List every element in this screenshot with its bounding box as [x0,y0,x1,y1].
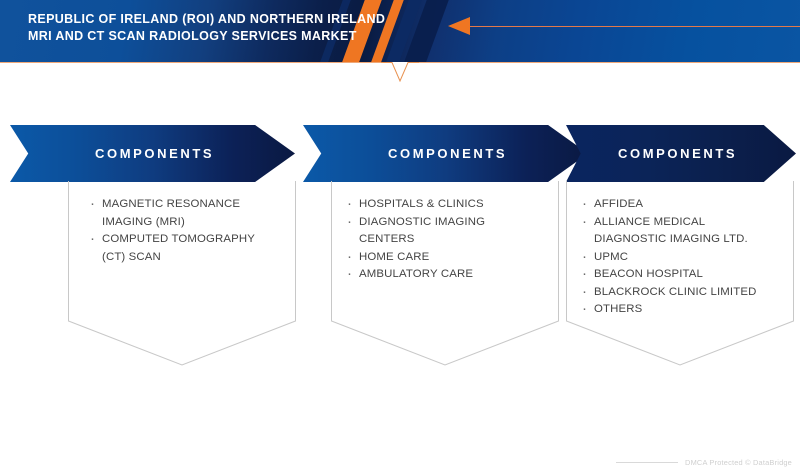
list-item: DIAGNOSTIC IMAGING CENTERS [345,214,535,249]
column-banner-2: COMPONENTS [303,125,588,182]
divider-line-left [0,62,383,63]
list-item: UPMC [580,249,770,267]
list-item: OTHERS [580,301,770,319]
list-item: COMPUTED TOMOGRAPHY (CT) SCAN [88,231,278,266]
column-list-2: HOSPITALS & CLINICS DIAGNOSTIC IMAGING C… [345,196,535,284]
page-title: REPUBLIC OF IRELAND (ROI) AND NORTHERN I… [28,11,385,45]
page-header: REPUBLIC OF IRELAND (ROI) AND NORTHERN I… [0,0,800,62]
banner-label: COMPONENTS [618,146,737,161]
chevron-down-notch-icon [381,62,419,82]
list-item: BLACKROCK CLINIC LIMITED [580,284,770,302]
arrow-left-icon [448,17,470,35]
column-banner-3: COMPONENTS [566,125,796,182]
banner-label: COMPONENTS [95,146,214,161]
list-item: ALLIANCE MEDICAL DIAGNOSTIC IMAGING LTD. [580,214,770,249]
column-list-1: MAGNETIC RESONANCE IMAGING (MRI) COMPUTE… [88,196,278,266]
list-item: BEACON HOSPITAL [580,266,770,284]
divider-line-right [417,62,800,63]
watermark-text: DMCA Protected © DataBridge [685,458,792,467]
header-arrow-line [470,26,800,27]
column-list-3: AFFIDEA ALLIANCE MEDICAL DIAGNOSTIC IMAG… [580,196,770,319]
list-item: HOME CARE [345,249,535,267]
footer-watermark: DMCA Protected © DataBridge [616,458,792,467]
banner-label: COMPONENTS [388,146,507,161]
footer-rule [616,462,678,463]
list-item: MAGNETIC RESONANCE IMAGING (MRI) [88,196,278,231]
header-divider [0,62,800,92]
column-banner-1: COMPONENTS [10,125,295,182]
list-item: HOSPITALS & CLINICS [345,196,535,214]
list-item: AFFIDEA [580,196,770,214]
list-item: AMBULATORY CARE [345,266,535,284]
